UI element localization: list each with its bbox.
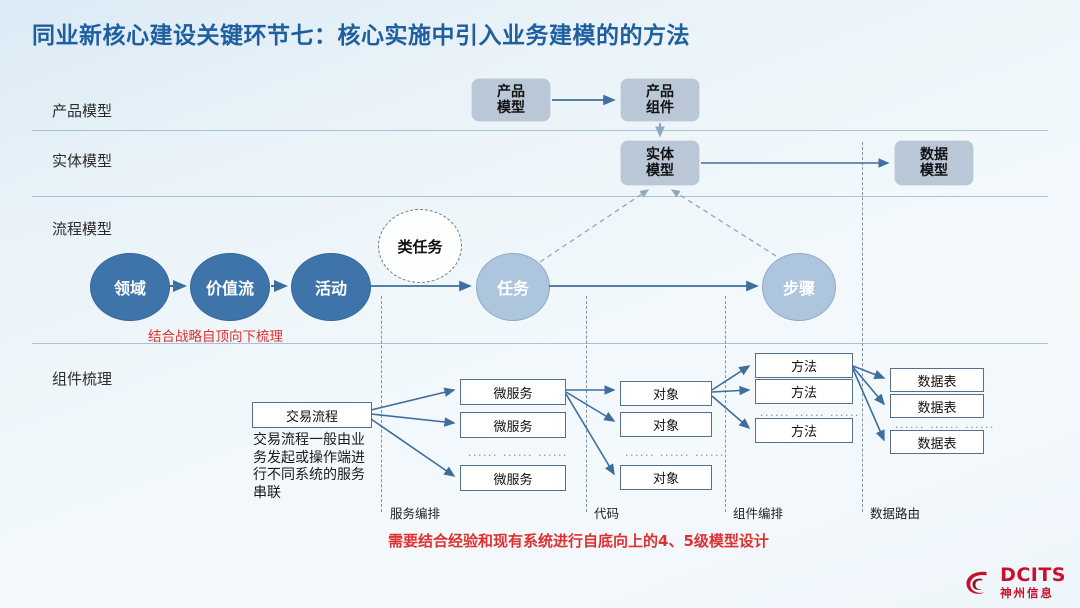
arrow-ms-to-obj3	[566, 394, 614, 474]
column-divider-2	[586, 296, 587, 512]
arrow-obj-to-method2	[712, 390, 749, 392]
divider-entity-process	[32, 196, 1048, 197]
box-product-model-line2: 模型	[497, 100, 525, 116]
bottom-note: 需要结合经验和现有系统进行自底向上的4、5级模型设计	[388, 530, 769, 551]
box-object-3[interactable]: 对象	[620, 465, 712, 490]
transaction-flow-note: 交易流程一般由业务发起或操作端进行不同系统的服务串联	[253, 432, 373, 502]
box-method-2[interactable]: 方法	[755, 379, 853, 404]
arrow-obj-to-method1	[712, 366, 749, 390]
circle-task[interactable]: 任务	[476, 253, 550, 321]
arrow-obj-to-method3	[712, 396, 749, 428]
process-note: 结合战略自顶向下梳理	[148, 325, 283, 345]
box-product-component-line2: 组件	[646, 100, 674, 116]
circle-step[interactable]: 步骤	[762, 253, 836, 321]
box-datatable-2[interactable]: 数据表	[890, 394, 984, 418]
box-data-model-line2: 模型	[920, 163, 948, 179]
object-ellipsis: ······ ······ ······	[625, 449, 725, 462]
column-divider-1	[381, 296, 382, 512]
dcits-swirl-icon	[961, 566, 995, 600]
circle-domain[interactable]: 领域	[90, 253, 170, 321]
slide-canvas: 同业新核心建设关键环节七：核心实施中引入业务建模的的方法 产品模型 实体模型 流…	[0, 0, 1080, 608]
box-microservice-1[interactable]: 微服务	[460, 379, 566, 405]
box-datatable-1[interactable]: 数据表	[890, 368, 984, 392]
circle-activity[interactable]: 活动	[291, 253, 371, 321]
logo-text-en: DCITS	[1000, 566, 1066, 585]
page-title: 同业新核心建设关键环节七：核心实施中引入业务建模的的方法	[32, 16, 690, 50]
box-microservice-2[interactable]: 微服务	[460, 412, 566, 438]
box-product-model-line1: 产品	[497, 84, 525, 100]
box-method-3[interactable]: 方法	[755, 418, 853, 443]
circle-value-stream[interactable]: 价值流	[190, 253, 270, 321]
column-caption-data-routing: 数据路由	[870, 503, 920, 522]
column-caption-component-orchestration: 组件编排	[733, 503, 783, 522]
column-caption-service-orchestration: 服务编排	[390, 503, 440, 522]
divider-product-entity	[32, 130, 1048, 131]
row-label-component-combing: 组件梳理	[52, 368, 112, 389]
row-label-entity-model: 实体模型	[52, 150, 112, 171]
brand-logo: DCITS 神州信息	[961, 566, 1066, 600]
box-transaction-flow[interactable]: 交易流程	[252, 402, 372, 428]
row-label-product-model: 产品模型	[52, 100, 112, 121]
box-product-component[interactable]: 产品 组件	[621, 79, 699, 121]
circle-task-class[interactable]: 类任务	[378, 209, 462, 283]
box-entity-model-line2: 模型	[646, 163, 674, 179]
arrow-method-to-dt3	[853, 369, 884, 440]
box-object-1[interactable]: 对象	[620, 381, 712, 406]
arrow-step-to-entity	[672, 190, 776, 256]
arrow-task-to-entity	[540, 190, 648, 262]
box-method-1[interactable]: 方法	[755, 353, 853, 378]
box-data-model[interactable]: 数据 模型	[895, 141, 973, 185]
arrow-flow-to-ms2	[371, 414, 454, 423]
column-divider-3	[725, 296, 726, 512]
box-product-model[interactable]: 产品 模型	[472, 79, 550, 121]
box-microservice-3[interactable]: 微服务	[460, 465, 566, 491]
box-datatable-3[interactable]: 数据表	[890, 430, 984, 454]
box-object-2[interactable]: 对象	[620, 412, 712, 437]
column-divider-4	[862, 142, 863, 512]
box-product-component-line1: 产品	[646, 84, 674, 100]
arrow-method-to-dt1	[853, 366, 884, 378]
box-data-model-line1: 数据	[920, 147, 948, 163]
box-entity-model-line1: 实体	[646, 147, 674, 163]
row-label-process-model: 流程模型	[52, 218, 112, 239]
column-caption-code: 代码	[594, 503, 619, 522]
arrow-flow-to-ms3	[371, 419, 454, 476]
arrow-method-to-dt2	[853, 367, 884, 404]
microservice-ellipsis: ······ ······ ······	[468, 449, 568, 462]
arrow-ms-to-obj2	[566, 392, 614, 421]
box-entity-model[interactable]: 实体 模型	[621, 141, 699, 185]
arrow-flow-to-ms1	[371, 390, 454, 410]
logo-text-cn: 神州信息	[1000, 588, 1066, 600]
